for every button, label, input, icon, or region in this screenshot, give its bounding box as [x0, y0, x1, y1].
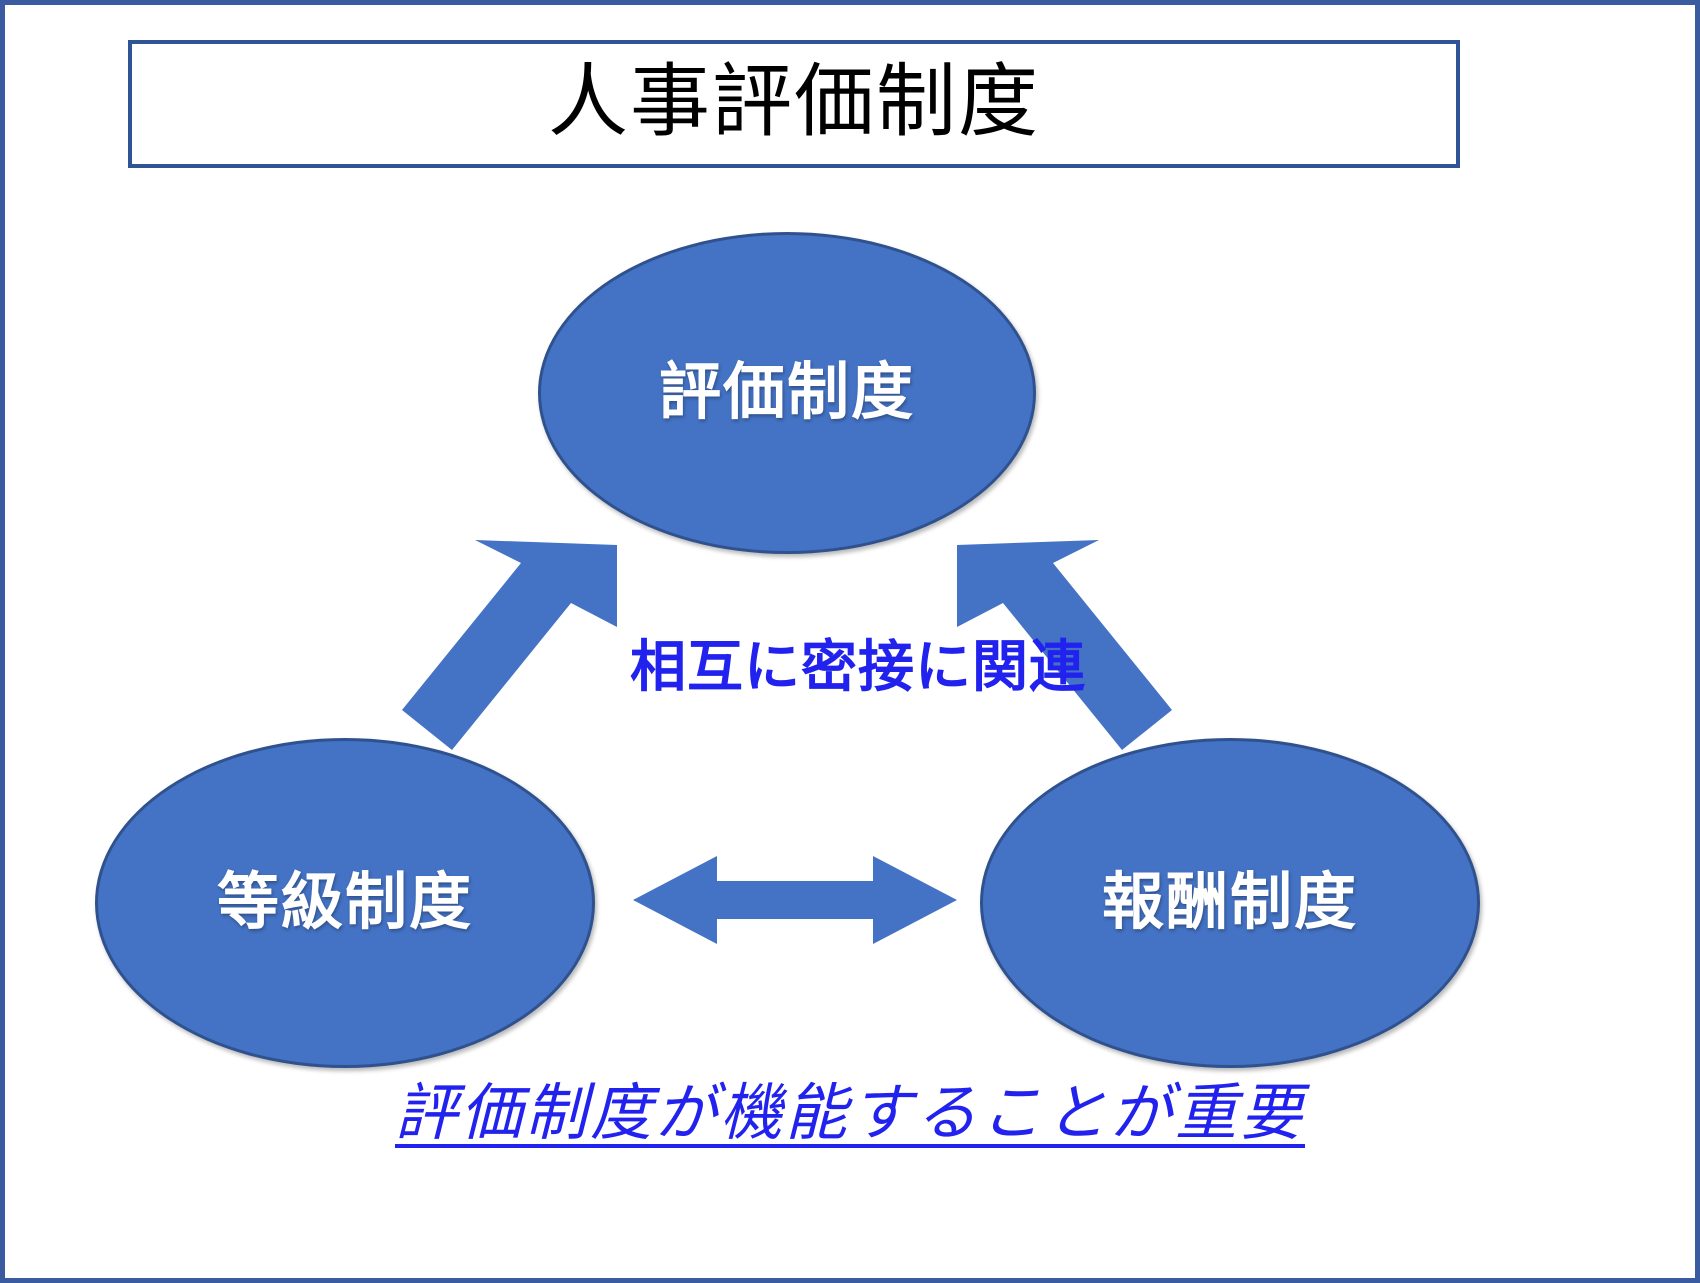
node-evaluation-system[interactable]: 評価制度	[538, 232, 1036, 554]
bottom-caption: 評価制度が機能することが重要	[5, 1083, 1695, 1145]
arrow-grade-reward-icon	[633, 856, 957, 944]
bottom-caption-text: 評価制度が機能することが重要	[395, 1083, 1305, 1145]
node-label: 等級制度	[217, 872, 473, 934]
node-grade-system[interactable]: 等級制度	[95, 738, 595, 1068]
node-label: 報酬制度	[1102, 872, 1358, 934]
relation-label-text: 相互に密接に関連	[630, 639, 1086, 695]
node-reward-system[interactable]: 報酬制度	[980, 738, 1480, 1068]
node-label: 評価制度	[659, 362, 915, 424]
slide-canvas: 人事評価制度 評価制度 等級制度 報酬制度 相互に密接に関連 評価制度が機能する…	[0, 0, 1700, 1283]
relation-label: 相互に密接に関連	[5, 639, 1695, 695]
